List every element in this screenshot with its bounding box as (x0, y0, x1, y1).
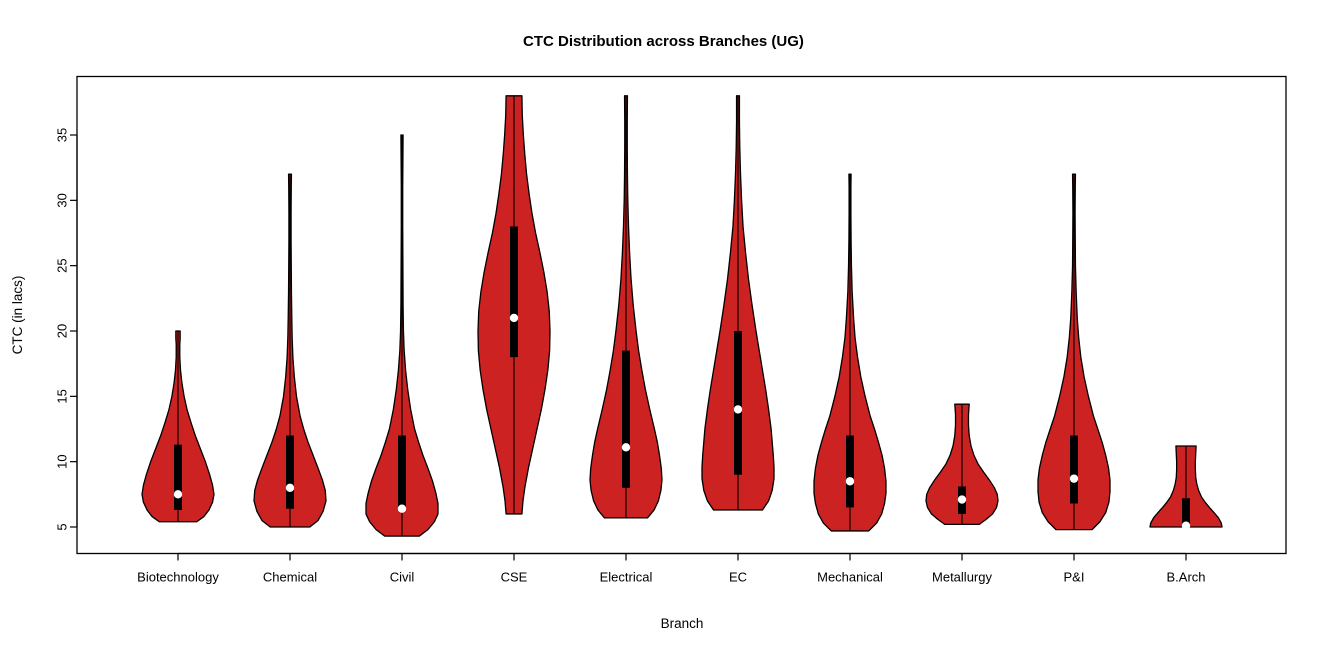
violin-median-marker (1182, 521, 1190, 529)
violin-median-marker (622, 443, 630, 451)
x-tick-label-chemical: Chemical (263, 570, 317, 585)
chart-canvas: CTC Distribution across Branches (UG) 51… (0, 0, 1327, 653)
violin-median-marker (958, 495, 966, 503)
violin-iqr-box (1070, 436, 1078, 504)
y-axis-title: CTC (in lacs) (10, 276, 25, 355)
x-tick-label-metallurgy: Metallurgy (932, 570, 992, 585)
violin-plot-page: CTC Distribution across Branches (UG) 51… (0, 0, 1327, 653)
violin-median-marker (174, 490, 182, 498)
chart-background (0, 0, 1327, 653)
x-tick-label-civil: Civil (390, 570, 415, 585)
x-tick-label-b-arch: B.Arch (1166, 570, 1205, 585)
violin-iqr-box (174, 445, 182, 510)
y-tick-label: 15 (54, 389, 69, 403)
x-tick-label-biotechnology: Biotechnology (137, 570, 219, 585)
violin-median-marker (846, 477, 854, 485)
x-tick-label-electrical: Electrical (600, 570, 653, 585)
y-tick-label: 25 (54, 258, 69, 272)
violin-iqr-box (622, 351, 630, 488)
violin-iqr-box (286, 436, 294, 509)
x-tick-label-p-i: P&I (1064, 570, 1085, 585)
x-tick-label-ec: EC (729, 570, 747, 585)
violin-iqr-box (1182, 498, 1190, 524)
y-tick-label: 30 (54, 193, 69, 207)
violin-iqr-box (846, 436, 854, 508)
y-tick-label: 10 (54, 454, 69, 468)
violin-median-marker (734, 405, 742, 413)
violin-median-marker (510, 314, 518, 322)
violin-median-marker (286, 484, 294, 492)
chart-title: CTC Distribution across Branches (UG) (523, 33, 804, 50)
x-axis-title: Branch (661, 616, 704, 631)
y-tick-label: 5 (54, 523, 69, 530)
violin-iqr-box (734, 331, 742, 475)
y-tick-label: 20 (54, 324, 69, 338)
violin-median-marker (398, 505, 406, 513)
violin-iqr-box (510, 226, 518, 357)
y-tick-label: 35 (54, 128, 69, 142)
x-tick-label-cse: CSE (501, 570, 528, 585)
x-tick-label-mechanical: Mechanical (817, 570, 883, 585)
violin-median-marker (1070, 474, 1078, 482)
violin-iqr-box (398, 436, 406, 508)
